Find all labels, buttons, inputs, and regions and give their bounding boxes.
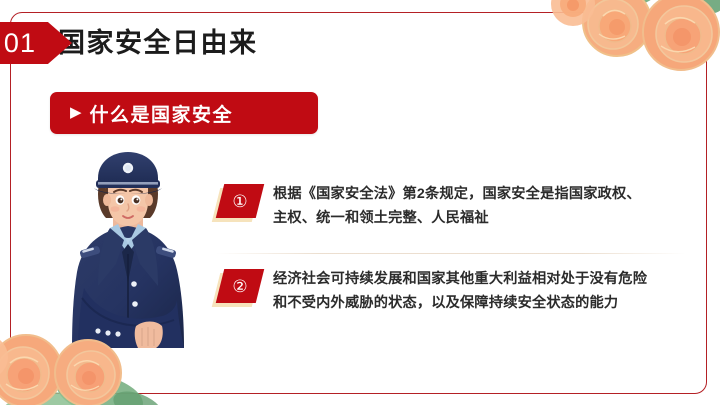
rose-flower-decoration-top-right xyxy=(521,0,720,95)
point-text-line: 根据《国家安全法》第2条规定，国家安全是指国家政权、 xyxy=(273,182,702,206)
marker-shape: ② xyxy=(216,269,264,303)
marker-shape: ① xyxy=(216,184,264,218)
list-item: ② 经济社会可持续发展和国家其他重大利益相对处于没有危险 和不受内外威胁的状态，… xyxy=(216,267,702,325)
section-number-badge: 01 xyxy=(0,22,72,64)
point-text-line: 经济社会可持续发展和国家其他重大利益相对处于没有危险 xyxy=(273,267,702,291)
content-list: ① 根据《国家安全法》第2条规定，国家安全是指国家政权、 主权、统一和领土完整、… xyxy=(216,182,702,325)
point-marker-2: ② xyxy=(216,269,260,307)
point-marker-1: ① xyxy=(216,184,260,222)
section-number-label: 01 xyxy=(0,22,48,64)
police-officer-illustration xyxy=(58,148,198,348)
play-triangle-icon: ▶ xyxy=(70,105,82,120)
section-banner[interactable]: ▶ 什么是国家安全 xyxy=(50,92,318,134)
point-text-line: 主权、统一和领土完整、人民福祉 xyxy=(273,206,702,230)
point-text-1: 根据《国家安全法》第2条规定，国家安全是指国家政权、 主权、统一和领土完整、人民… xyxy=(260,182,702,230)
marker-number-icon: ② xyxy=(220,269,260,303)
list-item: ① 根据《国家安全法》第2条规定，国家安全是指国家政权、 主权、统一和领土完整、… xyxy=(216,182,702,240)
slide-canvas: 01 国家安全日由来 ▶ 什么是国家安全 xyxy=(0,0,720,405)
point-text-2: 经济社会可持续发展和国家其他重大利益相对处于没有危险 和不受内外威胁的状态，以及… xyxy=(260,267,702,315)
section-banner-label: 什么是国家安全 xyxy=(90,100,234,127)
marker-number-icon: ① xyxy=(220,184,260,218)
page-title: 国家安全日由来 xyxy=(58,24,258,62)
point-text-line: 和不受内外威胁的状态，以及保障持续安全状态的能力 xyxy=(273,291,702,315)
